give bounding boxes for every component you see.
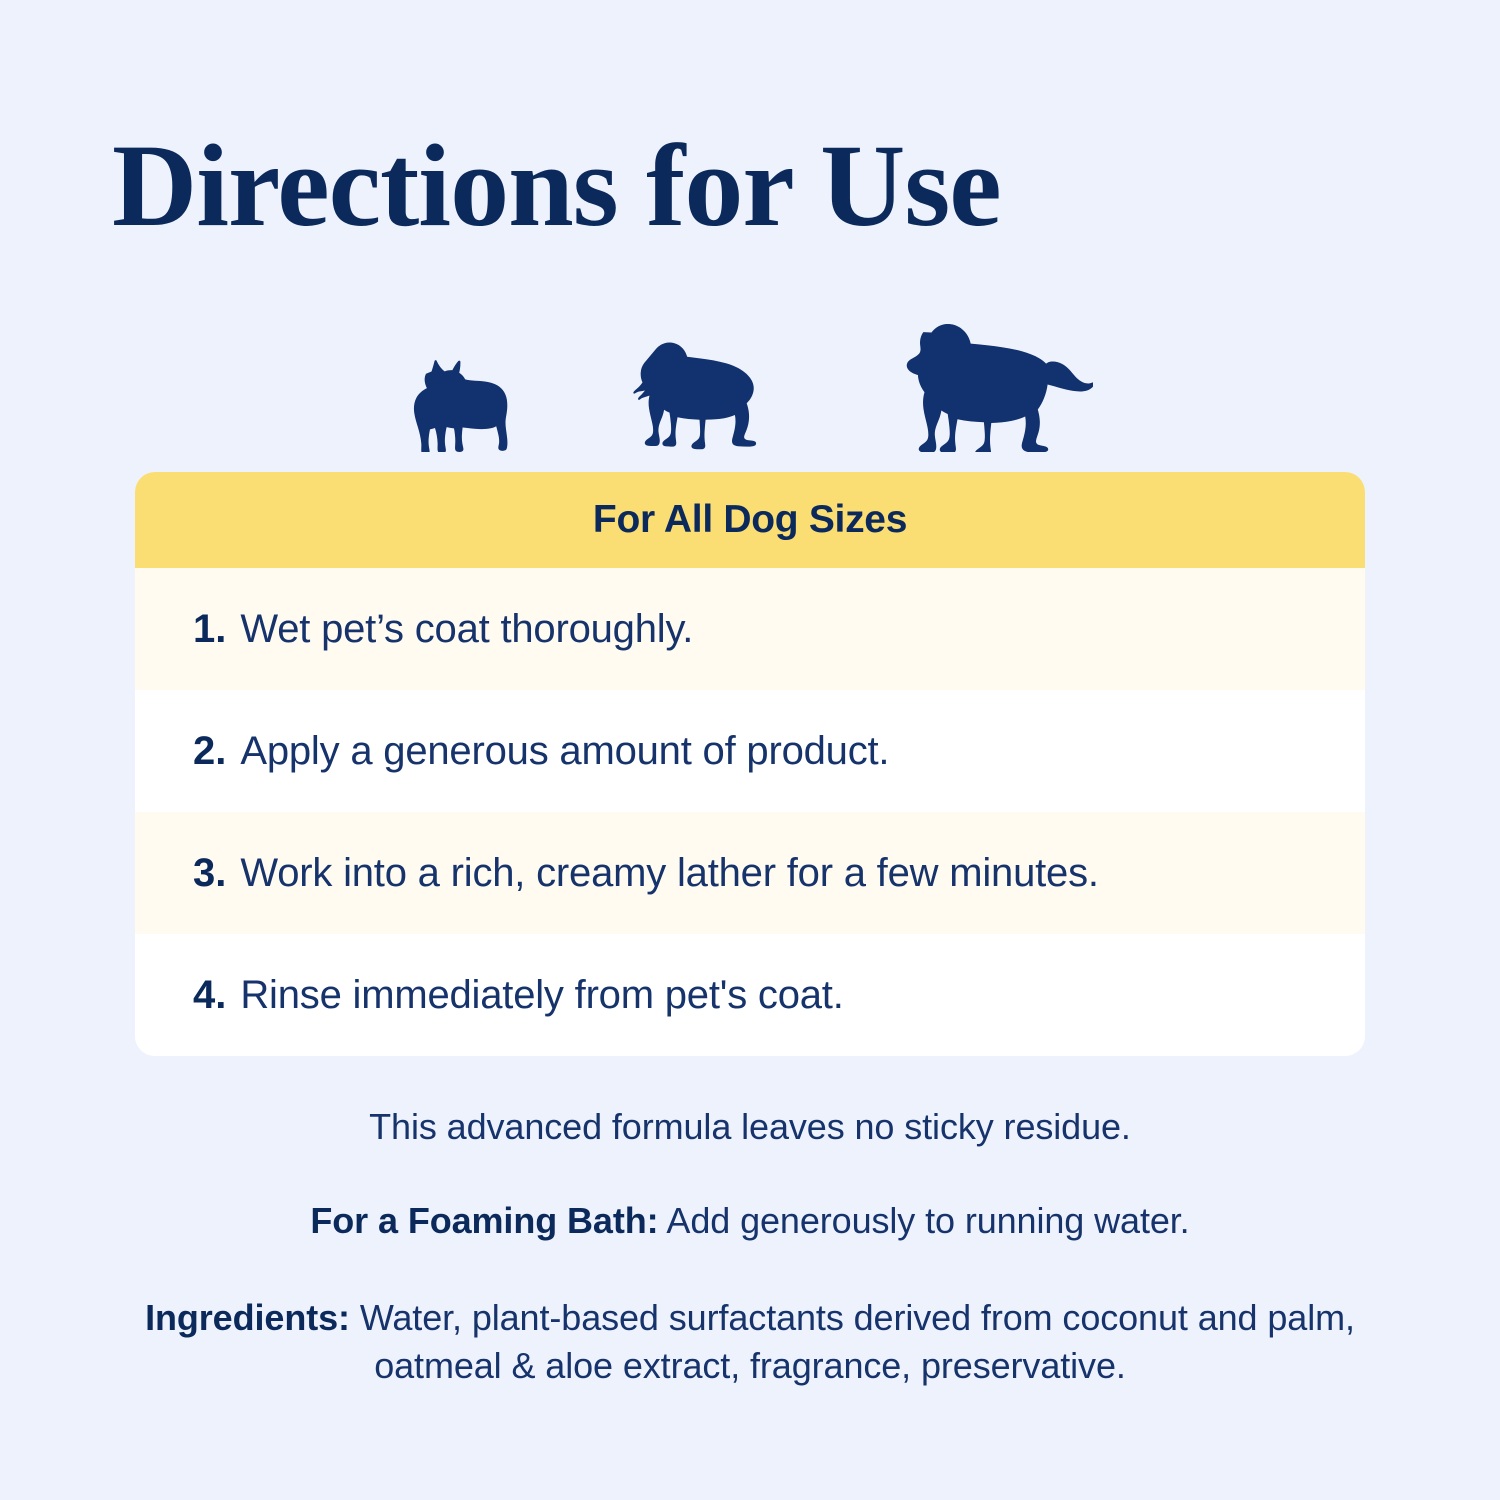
card-header-title: For All Dog Sizes <box>593 498 907 542</box>
medium-dog-silhouette <box>625 342 785 452</box>
foaming-bath-text: Add generously to running water. <box>659 1200 1190 1241</box>
step-row: 4. Rinse immediately from pet's coat. <box>135 934 1365 1056</box>
step-text: Rinse immediately from pet's coat. <box>240 973 843 1018</box>
page-title: Directions for Use <box>112 124 1392 248</box>
large-dog-silhouette <box>895 324 1093 452</box>
step-number: 1. <box>193 607 226 652</box>
step-text: Work into a rich, creamy lather for a fe… <box>240 851 1098 896</box>
step-row: 3. Work into a rich, creamy lather for a… <box>135 812 1365 934</box>
step-number: 3. <box>193 851 226 896</box>
footer-notes: This advanced formula leaves no sticky r… <box>0 1106 1500 1389</box>
step-text: Wet pet’s coat thoroughly. <box>240 607 693 652</box>
small-dog-silhouette <box>407 360 515 452</box>
foaming-bath-note: For a Foaming Bath: Add generously to ru… <box>0 1200 1500 1242</box>
ingredients-note: Ingredients: Water, plant-based surfacta… <box>0 1294 1500 1389</box>
step-text: Apply a generous amount of product. <box>240 729 889 774</box>
step-row: 1. Wet pet’s coat thoroughly. <box>135 568 1365 690</box>
ingredients-text: Water, plant-based surfactants derived f… <box>350 1297 1355 1386</box>
residue-note: This advanced formula leaves no sticky r… <box>0 1106 1500 1148</box>
foaming-bath-label: For a Foaming Bath: <box>310 1200 658 1241</box>
directions-card: For All Dog Sizes 1. Wet pet’s coat thor… <box>135 472 1365 1056</box>
step-row: 2. Apply a generous amount of product. <box>135 690 1365 812</box>
step-number: 2. <box>193 729 226 774</box>
ingredients-label: Ingredients: <box>145 1297 350 1338</box>
dog-size-illustrations <box>0 302 1500 452</box>
step-number: 4. <box>193 973 226 1018</box>
card-header: For All Dog Sizes <box>135 472 1365 568</box>
directions-for-use-panel: Directions for Use For All Dog Sizes 1. … <box>0 0 1500 1500</box>
